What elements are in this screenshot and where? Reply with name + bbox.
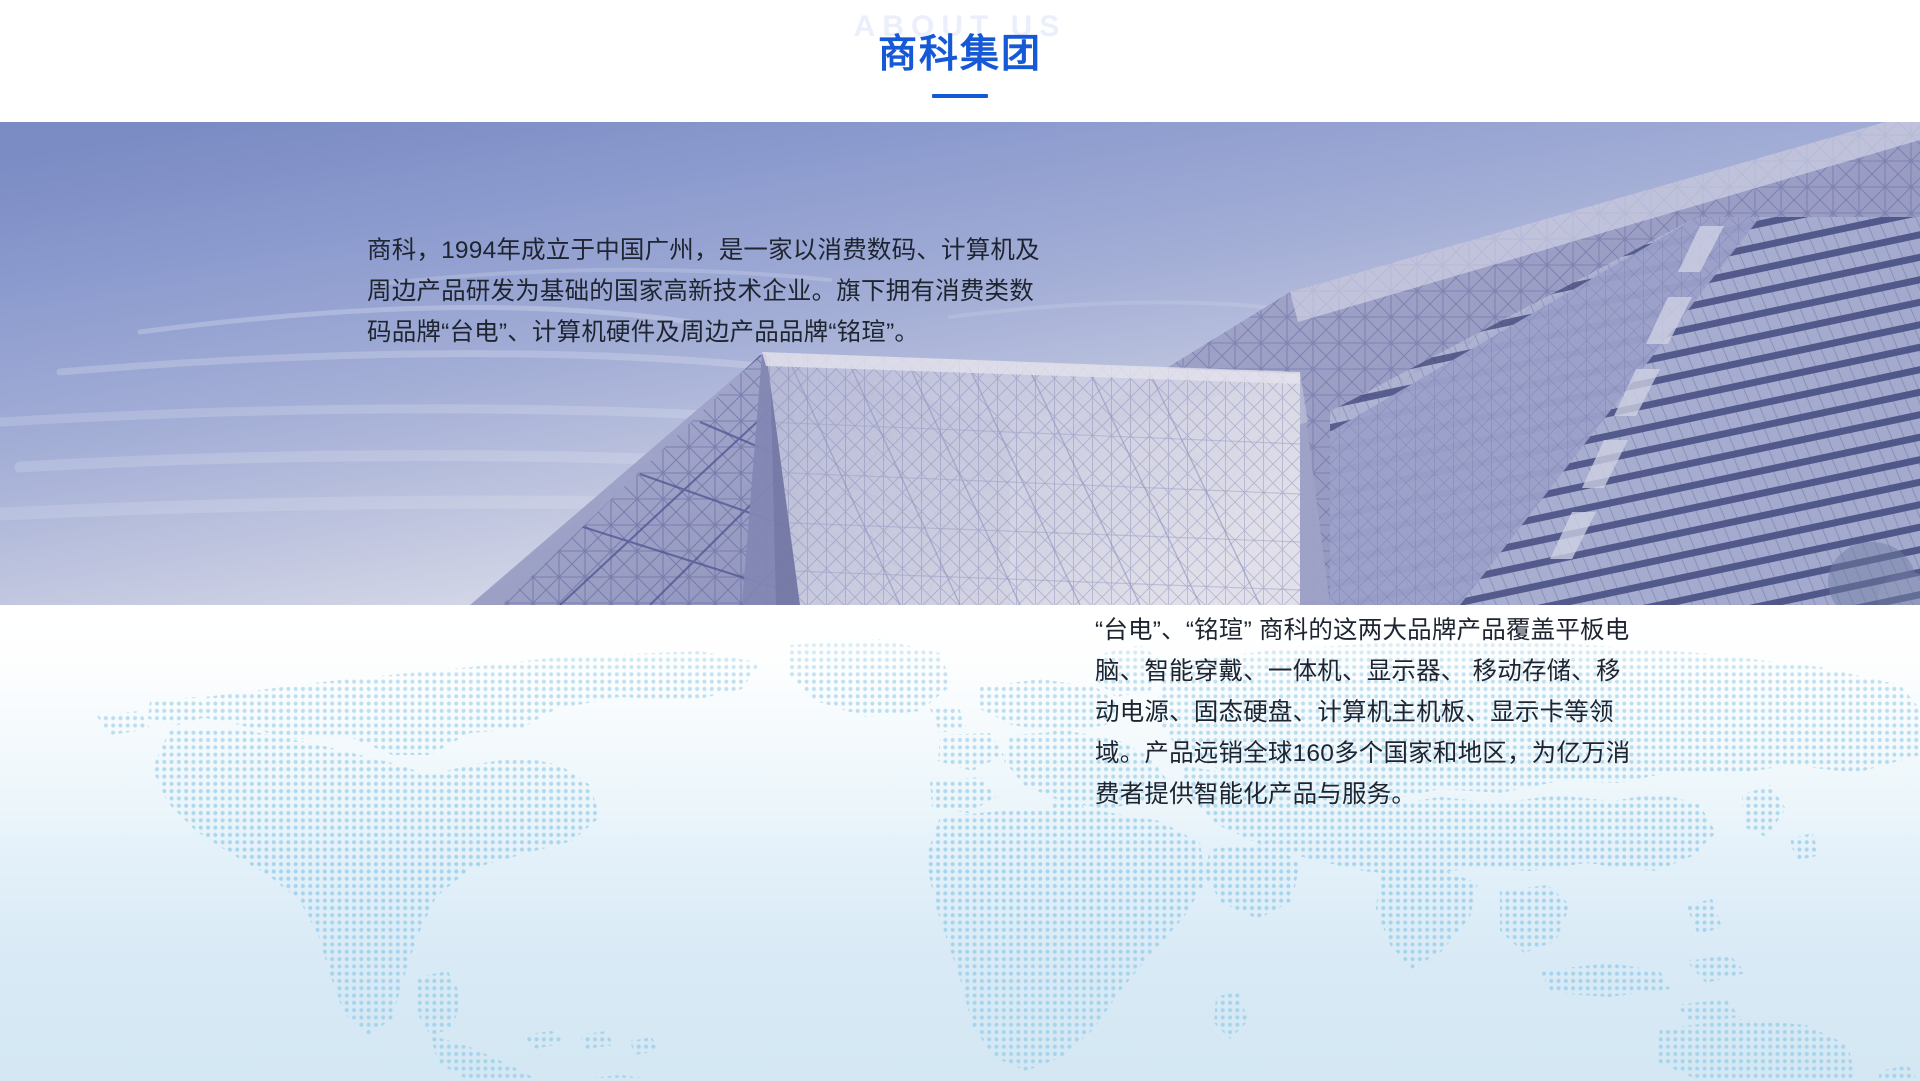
lower-copy-block: “台电”、“铭瑄” 商科的这两大品牌产品覆盖平板电脑、智能穿戴、一体机、显示器、… [1095,610,1635,815]
about-us-page: ABOUT US 商科集团 [0,0,1920,1081]
lower-paragraph: “台电”、“铭瑄” 商科的这两大品牌产品覆盖平板电脑、智能穿戴、一体机、显示器、… [1095,610,1635,815]
hero-architecture-image [0,122,1920,605]
hero-banner: 商科，1994年成立于中国广州，是一家以消费数码、计算机及周边产品研发为基础的国… [0,122,1920,605]
header-inner: ABOUT US 商科集团 [0,0,1920,122]
hero-paragraph: 商科，1994年成立于中国广州，是一家以消费数码、计算机及周边产品研发为基础的国… [367,230,1057,353]
world-map-section: “台电”、“铭瑄” 商科的这两大品牌产品覆盖平板电脑、智能穿戴、一体机、显示器、… [0,605,1920,1081]
title-underline [932,94,988,98]
page-title: 商科集团 [0,32,1920,77]
page-header: ABOUT US 商科集团 [0,0,1920,122]
hero-copy-block: 商科，1994年成立于中国广州，是一家以消费数码、计算机及周边产品研发为基础的国… [367,230,1067,353]
